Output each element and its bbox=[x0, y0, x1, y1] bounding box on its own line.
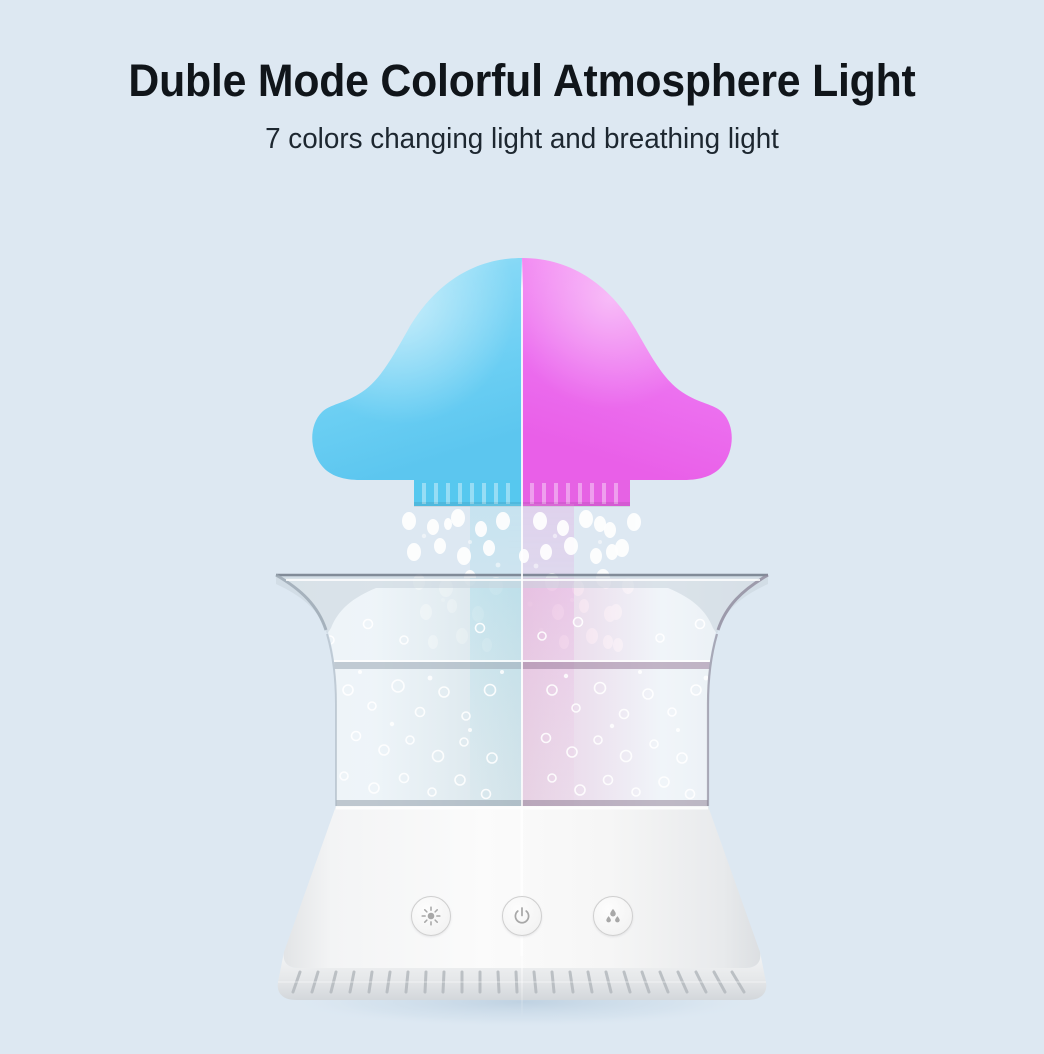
control-button-row bbox=[0, 896, 1044, 936]
cap-right-pink bbox=[522, 258, 732, 480]
power-button[interactable] bbox=[502, 896, 542, 936]
cap-left-blue bbox=[312, 258, 522, 480]
rain-nozzle-ring bbox=[414, 480, 630, 507]
product-banner: Duble Mode Colorful Atmosphere Light 7 c… bbox=[0, 0, 1044, 1054]
water-droplets-icon bbox=[602, 905, 624, 927]
sun-icon bbox=[420, 905, 442, 927]
water-level-line bbox=[300, 660, 744, 669]
mist-button[interactable] bbox=[593, 896, 633, 936]
light-brightness-button[interactable] bbox=[411, 896, 451, 936]
power-icon bbox=[511, 905, 533, 927]
transparent-water-tank bbox=[260, 560, 784, 830]
